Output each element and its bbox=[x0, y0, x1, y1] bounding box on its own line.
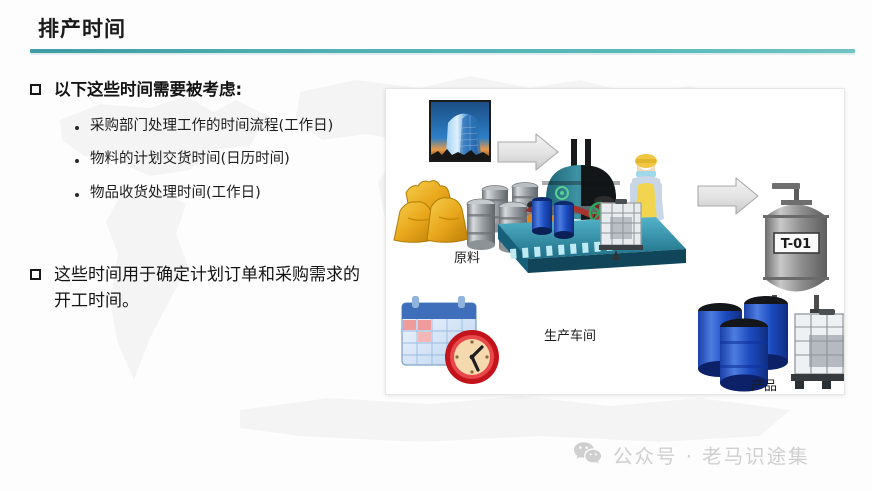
bullet-heading-text: 这些时间用于确定计划订单和采购需求的开工时间。 bbox=[54, 263, 375, 314]
square-bullet-icon bbox=[30, 84, 41, 95]
diagram-label-workshop: 生产车间 bbox=[544, 325, 596, 344]
arrow-right-icon bbox=[698, 178, 758, 214]
square-bullet-icon bbox=[30, 269, 41, 280]
storage-tank-icon: T-01 bbox=[763, 183, 829, 313]
content-text-column: 以下这些时间需要被考虑: 采购部门处理工作的时间流程(工作日) 物料的计划交货时… bbox=[0, 78, 380, 314]
list-item: 采购部门处理工作的时间流程(工作日) bbox=[75, 117, 380, 137]
diagram-label-product: 产品 bbox=[751, 375, 777, 394]
slide-canvas: 排产时间 以下这些时间需要被考虑: 采购部门处理工作的时间流程(工作日) 物料的… bbox=[0, 0, 872, 491]
process-flow-diagram: T-01 bbox=[385, 88, 845, 395]
diagram-label-raw-material: 原料 bbox=[454, 247, 480, 266]
bullet-heading-text: 以下这些时间需要被考虑: bbox=[54, 78, 242, 103]
dot-bullet-icon bbox=[75, 126, 79, 130]
list-item-label: 采购部门处理工作的时间流程(工作日) bbox=[90, 117, 333, 137]
office-building-photo bbox=[429, 100, 491, 162]
footer-watermark: 公众号 · 老马识途集 bbox=[573, 440, 810, 469]
page-title: 排产时间 bbox=[38, 13, 126, 43]
bullet-heading-row: 以下这些时间需要被考虑: bbox=[30, 78, 380, 103]
content-block-1: 以下这些时间需要被考虑: 采购部门处理工作的时间流程(工作日) 物料的计划交货时… bbox=[30, 78, 380, 203]
bullet-heading-row: 这些时间用于确定计划订单和采购需求的开工时间。 bbox=[30, 263, 375, 314]
title-underline-shadow bbox=[30, 53, 855, 55]
diagram-graphic: T-01 bbox=[386, 89, 845, 395]
list-item: 物品收货处理时间(工作日) bbox=[75, 184, 380, 204]
wechat-icon bbox=[573, 441, 602, 469]
dot-bullet-icon bbox=[75, 193, 79, 197]
tank-tag-label: T-01 bbox=[781, 237, 811, 252]
list-item-label: 物料的计划交货时间(日历时间) bbox=[90, 150, 290, 170]
footer-label: 公众号 · 老马识途集 bbox=[613, 440, 810, 469]
dot-bullet-icon bbox=[75, 159, 79, 163]
calendar-clock-icon bbox=[402, 296, 499, 384]
ibc-tote-icon bbox=[791, 309, 845, 389]
list-item: 物料的计划交货时间(日历时间) bbox=[75, 150, 380, 170]
sub-bullet-list: 采购部门处理工作的时间流程(工作日) 物料的计划交货时间(日历时间) 物品收货处… bbox=[75, 117, 380, 204]
list-item-label: 物品收货处理时间(工作日) bbox=[90, 184, 261, 204]
content-block-2: 这些时间用于确定计划订单和采购需求的开工时间。 bbox=[30, 263, 375, 314]
arrow-right-icon bbox=[498, 134, 558, 170]
gold-sacks-icon bbox=[394, 181, 468, 243]
